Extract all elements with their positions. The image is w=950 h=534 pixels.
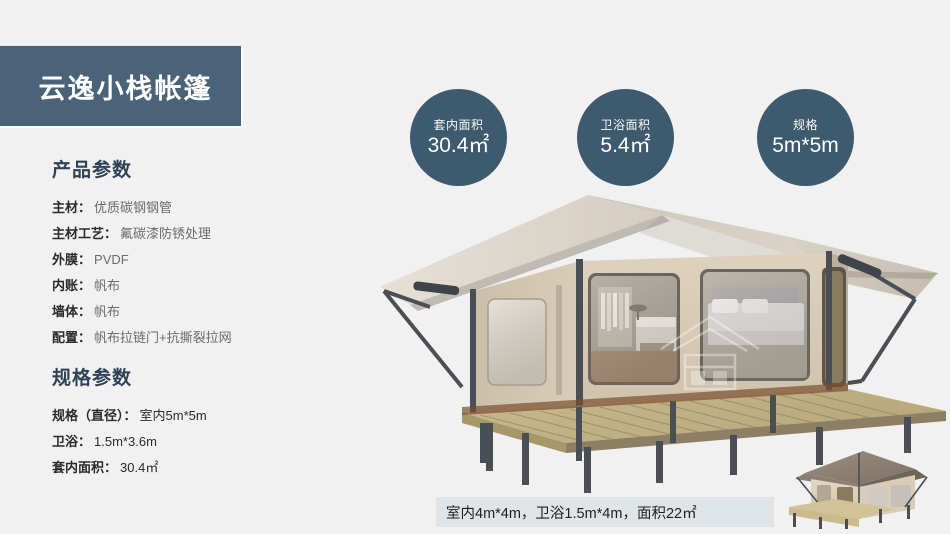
spec-value: 优质碳钢钢管 [91,200,172,215]
window-left-large [556,285,562,395]
size-params-heading: 规格参数 [52,368,352,391]
size-params-section: 规格参数 规格（直径）：室内5m*5m 卫浴：1.5m*3.6m 套内面积：30… [52,368,352,481]
spec-value: 帆布 [91,278,120,293]
corner-post-front [576,259,583,407]
spec-separator: ： [78,252,91,267]
spec-value: 1.5m*3.6m [91,434,157,449]
spec-separator: ： [124,408,137,423]
spec-row: 规格（直径）：室内5m*5m [52,403,352,429]
size-params-list: 规格（直径）：室内5m*5m 卫浴：1.5m*3.6m 套内面积：30.4㎡ [52,403,352,481]
metric-label: 卫浴面积 [600,118,650,132]
spec-label: 外膜 [52,252,78,267]
caption-bar: 室内4m*4m，卫浴1.5m*4m，面积22㎡ [436,497,774,527]
corner-post-right [826,251,832,393]
spec-row: 外膜：PVDF [52,247,352,273]
spec-separator: ： [78,330,91,345]
spec-separator: ： [78,304,91,319]
spec-row: 配置：帆布拉链门+抗撕裂拉网 [52,325,352,351]
window-front-1 [588,273,680,385]
spec-value: 帆布 [91,304,120,319]
metric-label: 规格 [793,118,818,132]
title-banner: 云逸小栈帐篷 [0,45,243,128]
spec-label: 墙体 [52,304,78,319]
spec-separator: ： [78,434,91,449]
spec-row: 主材：优质碳钢钢管 [52,195,352,221]
metric-value: 5.4㎡ [600,134,650,158]
spec-label: 主材 [52,200,78,215]
spec-separator: ： [78,278,91,293]
spec-row: 卫浴：1.5m*3.6m [52,429,352,455]
metric-badge-interior-area: 套内面积 30.4㎡ [410,89,507,186]
spec-label: 配置 [52,330,78,345]
product-params-heading: 产品参数 [52,160,352,183]
metric-badge-dimensions: 规格 5m*5m [757,89,854,186]
spec-label: 套内面积 [52,460,104,475]
spec-row: 内账：帆布 [52,273,352,299]
spec-separator: ： [104,460,117,475]
spec-value: 氟碳漆防锈处理 [117,226,211,241]
metric-value: 5m*5m [772,134,839,158]
window-front-2 [700,269,810,381]
product-params-section: 产品参数 主材：优质碳钢钢管 主材工艺：氟碳漆防锈处理 外膜：PVDF 内账：帆… [52,160,352,351]
spec-value: 30.4㎡ [117,460,158,475]
tent-thumbnail-illustration[interactable] [775,443,943,531]
metric-badge-bathroom-area: 卫浴面积 5.4㎡ [577,89,674,186]
spec-row: 墙体：帆布 [52,299,352,325]
spec-label: 卫浴 [52,434,78,449]
spec-label: 主材工艺 [52,226,104,241]
spec-row: 套内面积：30.4㎡ [52,455,352,481]
corner-post-left [470,289,476,425]
metric-value: 30.4㎡ [428,134,490,158]
spec-value: 帆布拉链门+抗撕裂拉网 [91,330,232,345]
window-left-small [488,299,546,385]
product-params-list: 主材：优质碳钢钢管 主材工艺：氟碳漆防锈处理 外膜：PVDF 内账：帆布 墙体：… [52,195,352,351]
spec-value: PVDF [91,252,129,267]
spec-label: 内账 [52,278,78,293]
spec-separator: ： [104,226,117,241]
product-spec-page: 云逸小栈帐篷 产品参数 主材：优质碳钢钢管 主材工艺：氟碳漆防锈处理 外膜：PV… [0,0,950,534]
spec-separator: ： [78,200,91,215]
page-title: 云逸小栈帐篷 [29,67,213,106]
caption-text: 室内4m*4m，卫浴1.5m*4m，面积22㎡ [446,502,697,523]
spec-value: 室内5m*5m [137,408,207,423]
spec-label: 规格（直径） [52,408,124,423]
spec-row: 主材工艺：氟碳漆防锈处理 [52,221,352,247]
metric-label: 套内面积 [433,118,483,132]
